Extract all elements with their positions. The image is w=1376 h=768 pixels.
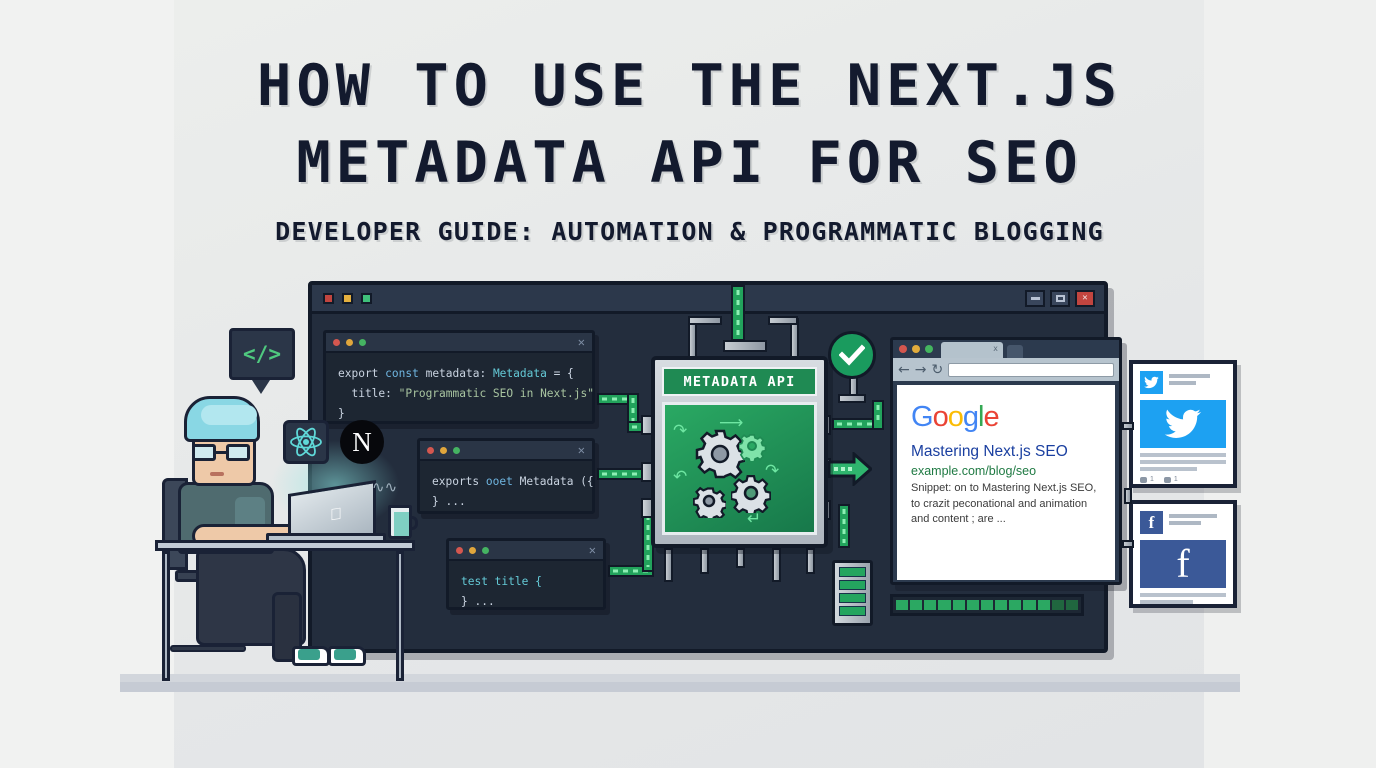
code-line: } ... — [432, 492, 580, 512]
page-title: HOW TO USE THE NEXT.JS METADATA API FOR … — [174, 58, 1205, 244]
poster-canvas: HOW TO USE THE NEXT.JS METADATA API FOR … — [0, 0, 1376, 768]
steam-icon: ∿∿ — [372, 478, 397, 496]
browser-maximize-dot[interactable] — [925, 345, 933, 353]
minimize-icon — [1031, 297, 1040, 300]
code-token: "Programmatic SEO in Next.js" — [399, 387, 594, 400]
cycle-arrow-top-left: ↷ — [673, 421, 687, 441]
close-icon: ✕ — [1082, 294, 1087, 303]
code-close-icon[interactable]: ✕ — [578, 336, 585, 348]
serp-page: Google Mastering Next.js SEO example.com… — [897, 385, 1115, 580]
google-logo: Google — [911, 401, 1101, 434]
output-pipe-bottom-vertical — [838, 504, 850, 548]
progress-segment — [981, 600, 993, 610]
code-dot-close[interactable] — [333, 339, 340, 346]
code-dot-maximize[interactable] — [453, 447, 460, 454]
code-line: title: "Programmatic SEO in Next.js" — [338, 384, 580, 404]
output-pipe-top-vertical — [872, 400, 884, 430]
google-logo-letter: o — [948, 401, 963, 433]
gear-icon-large — [695, 429, 745, 479]
card-metric: 1 — [1140, 476, 1154, 483]
reload-icon[interactable]: ↻ — [931, 363, 943, 377]
hair-highlight — [201, 405, 257, 425]
title-subtitle: DEVELOPER GUIDE: AUTOMATION & PROGRAMMAT… — [174, 219, 1205, 244]
code-dot-close[interactable] — [456, 547, 463, 554]
code-close-icon[interactable]: ✕ — [589, 544, 596, 556]
code-content: test title {} ... — [449, 561, 603, 623]
machine-screen: ↷ ⟶ ↶ ↷ ↵ — [662, 402, 817, 535]
card-header-lines — [1169, 371, 1226, 388]
traffic-light-close[interactable] — [323, 293, 334, 304]
card-body-line-1 — [1140, 593, 1226, 597]
code-token: Metadata — [493, 367, 554, 380]
output-arrow-icon — [828, 452, 872, 486]
card-header-line-2 — [1169, 381, 1196, 385]
card-body-line-3 — [1140, 467, 1197, 471]
google-logo-letter: e — [983, 401, 998, 433]
card-header-lines — [1169, 511, 1226, 528]
structure-leg-1 — [664, 548, 673, 582]
serp-result-title[interactable]: Mastering Next.js SEO — [911, 443, 1101, 461]
title-line-1: HOW TO USE THE NEXT.JS — [174, 58, 1205, 115]
bubble-tail — [252, 380, 270, 394]
nextjs-logo: N — [340, 420, 384, 464]
background-left-band — [0, 0, 175, 768]
title-line-2: METADATA API FOR SEO — [174, 135, 1205, 192]
card-metrics: 11 — [1140, 476, 1226, 483]
code-line: test title { — [461, 572, 591, 592]
progress-segment — [896, 600, 908, 610]
facebook-f-icon: f — [1140, 511, 1163, 534]
shoe-accent — [334, 649, 356, 660]
character-shoe-right — [328, 646, 366, 666]
card-header: f — [1140, 511, 1226, 534]
social-connector-facebook — [1122, 540, 1134, 548]
google-logo-letter: g — [963, 401, 978, 433]
structure-pipe-right-horizontal — [768, 316, 798, 325]
code-token: ooet — [486, 475, 520, 488]
comment-icon — [1140, 477, 1147, 483]
main-window-titlebar: ✕ — [312, 285, 1104, 314]
rack-led — [839, 593, 866, 603]
progress-segment — [1052, 600, 1064, 610]
google-logo-letter: o — [933, 401, 948, 433]
back-icon[interactable]: ← — [898, 363, 910, 377]
glasses-lens-right — [226, 444, 250, 461]
card-metric-count: 1 — [1174, 476, 1178, 483]
social-connector-twitter — [1122, 422, 1134, 430]
structure-leg-5 — [806, 548, 815, 574]
progress-segment — [1066, 600, 1078, 610]
code-token: } ... — [461, 595, 495, 608]
desk-leg-right — [396, 551, 404, 681]
character-mouth — [210, 472, 224, 476]
code-token: = { — [554, 367, 574, 380]
floor-shadow — [120, 682, 1240, 692]
structure-pipe-left-horizontal — [688, 316, 722, 325]
code-line: } — [338, 404, 580, 424]
code-panel-titlebar: ✕ — [326, 333, 592, 353]
react-atom-icon — [283, 420, 329, 464]
tab-close-icon[interactable]: x — [993, 344, 998, 353]
card-metric: 1 — [1164, 476, 1178, 483]
code-speech-bubble: </> — [229, 328, 295, 380]
apple-logo-icon:  — [329, 506, 343, 524]
browser-titlebar: x — [893, 340, 1119, 358]
rack-led — [839, 580, 866, 590]
character-hair — [184, 396, 260, 442]
code-dot-maximize[interactable] — [482, 547, 489, 554]
cycle-arrow-left: ↶ — [673, 467, 687, 487]
code-dot-maximize[interactable] — [359, 339, 366, 346]
progress-segment — [910, 600, 922, 610]
traffic-light-minimize[interactable] — [342, 293, 353, 304]
browser-tab[interactable]: x — [941, 342, 1003, 358]
twitter-card: 11 — [1129, 360, 1237, 488]
serp-result-url[interactable]: example.com/blog/seo — [911, 464, 1101, 478]
maximize-icon — [1056, 295, 1065, 302]
progress-segment — [938, 600, 950, 610]
progress-bar — [890, 594, 1084, 616]
url-bar[interactable] — [948, 363, 1114, 377]
card-header-line-1 — [1169, 514, 1217, 518]
character-glasses — [190, 444, 258, 463]
input-pipe-top — [731, 285, 745, 341]
code-token: } ... — [432, 495, 466, 508]
structure-leg-3 — [736, 548, 745, 568]
gear-icon-medium — [731, 473, 771, 513]
code-token: exports — [432, 475, 486, 488]
close-button[interactable]: ✕ — [1075, 290, 1095, 307]
server-rack — [832, 560, 873, 626]
progress-segment — [1038, 600, 1050, 610]
coffee-mug — [388, 505, 412, 539]
code-dot-minimize[interactable] — [346, 339, 353, 346]
social-connector-spine — [1124, 488, 1132, 504]
window-controls: ✕ — [1025, 290, 1095, 307]
code-panel-titlebar: ✕ — [420, 441, 592, 461]
code-panel-titlebar: ✕ — [449, 541, 603, 561]
rack-led — [839, 606, 866, 616]
code-token: test title { — [461, 575, 542, 588]
code-panel-generate-metadata[interactable]: ✕ exports ooet Metadata ({} ... — [417, 438, 595, 514]
retweet-icon — [1164, 477, 1171, 483]
structure-pipe-top-cap — [723, 340, 767, 352]
card-metric-count: 1 — [1150, 476, 1154, 483]
code-close-icon[interactable]: ✕ — [578, 444, 585, 456]
code-brackets-icon: </> — [243, 342, 281, 366]
character-shoe-left — [292, 646, 330, 666]
code-token: const — [385, 367, 425, 380]
desk-leg-left — [162, 551, 170, 681]
machine-label: METADATA API — [662, 367, 817, 396]
serp-result-snippet: Snippet: on to Mastering Next.js SEO, to… — [911, 481, 1101, 528]
desk-surface — [155, 540, 415, 551]
code-line: } ... — [461, 592, 591, 612]
code-line: export const metadata: Metadata = { — [338, 364, 580, 384]
glasses-lens-left — [192, 444, 216, 461]
code-content: exports ooet Metadata ({} ... — [420, 461, 592, 523]
code-token: Metadata ({ — [520, 475, 594, 488]
code-dot-minimize[interactable] — [469, 547, 476, 554]
browser-new-tab-button[interactable] — [1007, 345, 1023, 358]
card-header — [1140, 371, 1226, 394]
metadata-api-machine: METADATA API ↷ ⟶ ↶ ↷ ↵ — [651, 356, 828, 548]
card-hero-image: f — [1140, 540, 1226, 588]
forward-icon[interactable]: → — [915, 363, 927, 377]
check-badge-arm — [838, 394, 866, 403]
browser-close-dot[interactable] — [899, 345, 907, 353]
code-dot-close[interactable] — [427, 447, 434, 454]
code-panel-test-title[interactable]: ✕ test title {} ... — [446, 538, 606, 610]
gear-icon-small-accent — [739, 433, 767, 461]
card-body-lines — [1140, 593, 1226, 604]
google-logo-letter: G — [911, 401, 933, 433]
progress-segment — [1009, 600, 1021, 610]
minimize-button[interactable] — [1025, 290, 1045, 307]
maximize-button[interactable] — [1050, 290, 1070, 307]
code-token: metadata: — [426, 367, 493, 380]
browser-minimize-dot[interactable] — [912, 345, 920, 353]
rack-led — [839, 567, 866, 577]
code-dot-minimize[interactable] — [440, 447, 447, 454]
shoe-accent — [298, 649, 320, 660]
card-body-lines — [1140, 453, 1226, 471]
code-token: export — [338, 367, 385, 380]
structure-leg-2 — [700, 548, 709, 574]
check-icon — [828, 331, 876, 379]
twitter-bird-icon — [1140, 371, 1163, 394]
structure-leg-4 — [772, 548, 781, 582]
mug-liquid — [394, 512, 409, 536]
nextjs-letter: N — [352, 429, 372, 456]
code-line: exports ooet Metadata ({ — [432, 472, 580, 492]
browser-toolbar: ← → ↻ — [893, 358, 1119, 381]
card-body-line-1 — [1140, 453, 1226, 457]
progress-segment — [1023, 600, 1035, 610]
progress-segment — [995, 600, 1007, 610]
browser-window: x ← → ↻ Google Mastering Next.js SEO exa… — [890, 337, 1122, 585]
gear-icon-small — [693, 485, 726, 518]
glasses-bridge — [216, 451, 228, 454]
card-body-line-2 — [1140, 460, 1226, 464]
card-body-line-2 — [1140, 600, 1193, 604]
progress-segment — [967, 600, 979, 610]
card-hero-image — [1140, 400, 1226, 448]
progress-segment — [953, 600, 965, 610]
progress-segment — [924, 600, 936, 610]
card-header-line-1 — [1169, 374, 1210, 378]
traffic-light-maximize[interactable] — [361, 293, 372, 304]
facebook-card: f f — [1129, 500, 1237, 608]
card-header-line-2 — [1169, 521, 1201, 525]
